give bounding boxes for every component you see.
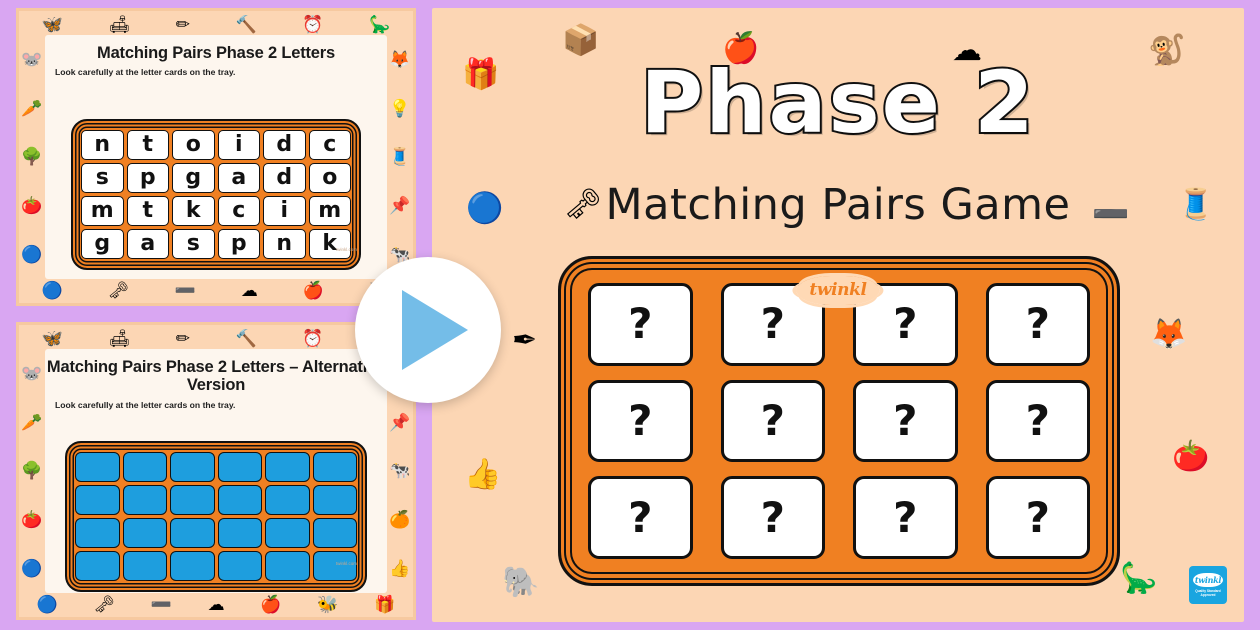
letter-card[interactable]: m xyxy=(81,196,124,226)
facedown-card[interactable] xyxy=(313,551,358,581)
facedown-card[interactable] xyxy=(313,452,358,482)
thumb-icon: 👍 xyxy=(464,460,501,490)
crayon-icon: ✒ xyxy=(512,326,537,356)
letter-card[interactable]: k xyxy=(309,229,352,259)
slide-1-card: Matching Pairs Phase 2 Letters Look care… xyxy=(45,35,387,279)
letter-card[interactable]: d xyxy=(263,163,306,193)
facedown-card[interactable] xyxy=(75,551,120,581)
letter-card[interactable]: m xyxy=(309,196,352,226)
letter-card[interactable]: a xyxy=(218,163,261,193)
crayon-icon: ✏ xyxy=(176,16,190,33)
clipart-border-right: 🦊 💡 🧵 📌 🐄 xyxy=(387,35,413,279)
bench-icon: 🛋 xyxy=(109,16,131,33)
letter-card[interactable]: i xyxy=(218,130,261,160)
balloon-icon: 🔵 xyxy=(42,282,63,299)
stegosaurus-icon: 🦕 xyxy=(1120,564,1157,594)
tomato-icon: 🍅 xyxy=(21,197,42,214)
letter-card[interactable]: c xyxy=(309,130,352,160)
question-card[interactable]: ? xyxy=(986,476,1091,559)
facedown-card[interactable] xyxy=(170,551,215,581)
letter-card[interactable]: k xyxy=(172,196,215,226)
question-card[interactable]: ? xyxy=(721,380,826,463)
balloon-icon: 🔵 xyxy=(21,246,42,263)
presentation-preview: 🦋 🛋 ✏ 🔨 ⏰ 🦕 🐭 🥕 🌳 🍅 🔵 🦊 💡 🧵 📌 🐄 🔵 🗝 ➖ ☁ xyxy=(0,0,1260,630)
slide-thumbnail-2[interactable]: 🦋 🛋 ✏ 🔨 ⏰ 🦕 🐭 🥕 🌳 🍅 🔵 🧵 📌 🐄 🍊 👍 🔵 🗝 ➖ ☁ xyxy=(16,322,416,620)
belt-icon: ➖ xyxy=(175,282,196,299)
tomato-icon: 🍅 xyxy=(1172,442,1209,472)
nail-icon: 📌 xyxy=(389,414,410,431)
fox-icon: 🦊 xyxy=(389,51,410,68)
letter-card[interactable]: o xyxy=(172,130,215,160)
question-card[interactable]: ? xyxy=(853,283,958,366)
belt-icon: ➖ xyxy=(151,596,172,613)
letter-card[interactable]: t xyxy=(127,130,170,160)
letter-tray-slide-1: ntoidcspgadomtkcimgaspnk xyxy=(71,119,361,270)
letter-card[interactable]: t xyxy=(127,196,170,226)
tree-icon: 🌳 xyxy=(21,462,42,479)
facedown-tray-slide-2 xyxy=(65,441,367,592)
mouse-icon: 🐭 xyxy=(21,51,42,68)
facedown-card[interactable] xyxy=(123,485,168,515)
clipart-border-bottom: 🔵 🗝 ➖ ☁ 🍎 🐝 🎁 xyxy=(19,591,413,617)
mouse-icon: 🐝 xyxy=(317,596,338,613)
facedown-card[interactable] xyxy=(170,452,215,482)
rock-icon: ☁ xyxy=(241,282,258,299)
letter-card[interactable]: n xyxy=(263,229,306,259)
rock-icon: ☁ xyxy=(208,596,225,613)
carrot-icon: 🥕 xyxy=(21,100,42,117)
game-card-grid: ???????????? xyxy=(588,283,1090,559)
facedown-card[interactable] xyxy=(75,518,120,548)
facedown-card[interactable] xyxy=(218,551,263,581)
tree-icon: 🌳 xyxy=(21,148,42,165)
balloon-icon: 🔵 xyxy=(21,560,42,577)
dinosaur-icon: 🦕 xyxy=(369,16,390,33)
question-card[interactable]: ? xyxy=(588,380,693,463)
facedown-card[interactable] xyxy=(170,485,215,515)
twinkl-quality-badge: twinkl Quality StandardApproved xyxy=(1189,566,1227,604)
balloon-icon: 🔵 xyxy=(37,596,58,613)
letter-card[interactable]: c xyxy=(218,196,261,226)
apple-icon: 🍎 xyxy=(260,596,281,613)
key-icon: 🗝 xyxy=(108,282,130,299)
question-card[interactable]: ? xyxy=(721,476,826,559)
twinkl-badge-brand: twinkl xyxy=(1193,573,1223,587)
slide-2-card: Matching Pairs Phase 2 Letters – Alterna… xyxy=(45,349,387,593)
key-icon: 🗝 xyxy=(94,596,116,613)
facedown-card[interactable] xyxy=(123,551,168,581)
facedown-card[interactable] xyxy=(123,452,168,482)
mouse-icon: 🐭 xyxy=(21,365,42,382)
facedown-card[interactable] xyxy=(218,452,263,482)
box-icon: 📦 xyxy=(562,26,599,56)
letter-card[interactable]: i xyxy=(263,196,306,226)
orange-icon: 🍊 xyxy=(389,511,410,528)
clipart-border-top: 🦋 🛋 ✏ 🔨 ⏰ 🦕 xyxy=(19,325,413,351)
nail-icon: 📌 xyxy=(389,197,410,214)
twinkl-badge-caption: Quality StandardApproved xyxy=(1191,589,1225,597)
twinkl-badge-caption-line-2: Approved xyxy=(1201,593,1216,597)
sock-icon: 🧵 xyxy=(389,148,410,165)
clipart-border-bottom: 🔵 🗝 ➖ ☁ 🍎 🐝 xyxy=(19,277,413,303)
game-tray: ???????????? xyxy=(558,256,1120,586)
crayon-icon: ✏ xyxy=(176,330,190,347)
question-card[interactable]: ? xyxy=(853,476,958,559)
question-card[interactable]: ? xyxy=(986,283,1091,366)
facedown-card[interactable] xyxy=(265,485,310,515)
play-button[interactable] xyxy=(355,257,501,403)
carrot-icon: 🥕 xyxy=(21,414,42,431)
thumb-icon: 👍 xyxy=(389,560,410,577)
clock-icon: ⏰ xyxy=(302,330,323,347)
facedown-card[interactable] xyxy=(265,518,310,548)
facedown-card[interactable] xyxy=(218,485,263,515)
slide-thumbnail-1[interactable]: 🦋 🛋 ✏ 🔨 ⏰ 🦕 🐭 🥕 🌳 🍅 🔵 🦊 💡 🧵 📌 🐄 🔵 🗝 ➖ ☁ xyxy=(16,8,416,306)
facedown-card[interactable] xyxy=(265,452,310,482)
main-title: Phase 2 xyxy=(432,60,1244,146)
clipart-border-left: 🐭 🥕 🌳 🍅 🔵 xyxy=(19,349,45,593)
question-card[interactable]: ? xyxy=(588,283,693,366)
zebra-icon: 🦋 xyxy=(42,16,63,33)
lamp-icon: 💡 xyxy=(389,100,410,117)
question-card[interactable]: ? xyxy=(853,380,958,463)
slide-2-title: Matching Pairs Phase 2 Letters – Alterna… xyxy=(45,349,387,395)
main-subtitle: Matching Pairs Game xyxy=(432,180,1244,230)
elephant-icon: 🐘 xyxy=(502,568,539,598)
saw-icon: 🔨 xyxy=(236,16,257,33)
main-slide-preview[interactable]: 📦🎁🍎☁🐒🔵🗝➖🧵✒🦊👍🍅🐘🦕 Phase 2 Matching Pairs G… xyxy=(432,8,1244,622)
letter-card[interactable]: g xyxy=(81,229,124,259)
clipart-border-left: 🐭 🥕 🌳 🍅 🔵 xyxy=(19,35,45,279)
facedown-card[interactable] xyxy=(265,551,310,581)
bench-icon: 🛋 xyxy=(109,330,131,347)
slide-2-instruction: Look carefully at the letter cards on th… xyxy=(45,395,387,410)
apple-icon: 🍎 xyxy=(303,282,324,299)
letter-card[interactable]: s xyxy=(172,229,215,259)
letter-card[interactable]: n xyxy=(81,130,124,160)
slide-1-credit: twinkl.com xyxy=(336,247,357,252)
clock-icon: ⏰ xyxy=(302,16,323,33)
letter-card[interactable]: p xyxy=(127,163,170,193)
facedown-card[interactable] xyxy=(75,485,120,515)
cow-icon: 🐄 xyxy=(389,462,410,479)
slide-2-credit: twinkl.com xyxy=(336,561,357,566)
facedown-card[interactable] xyxy=(75,452,120,482)
gift-icon: 🎁 xyxy=(374,596,395,613)
letter-card[interactable]: d xyxy=(263,130,306,160)
clipart-border-top: 🦋 🛋 ✏ 🔨 ⏰ 🦕 xyxy=(19,11,413,37)
zebra-icon: 🦋 xyxy=(42,330,63,347)
facedown-card[interactable] xyxy=(123,518,168,548)
letter-card[interactable]: p xyxy=(218,229,261,259)
facedown-card[interactable] xyxy=(218,518,263,548)
saw-icon: 🔨 xyxy=(236,330,257,347)
slide-1-title: Matching Pairs Phase 2 Letters xyxy=(45,35,387,62)
play-triangle-icon xyxy=(402,290,468,370)
question-card[interactable]: ? xyxy=(986,380,1091,463)
letter-card[interactable]: a xyxy=(127,229,170,259)
letter-card[interactable]: g xyxy=(172,163,215,193)
facedown-card[interactable] xyxy=(170,518,215,548)
question-card[interactable]: ? xyxy=(721,283,826,366)
facedown-card[interactable] xyxy=(313,485,358,515)
fox-icon: 🦊 xyxy=(1150,320,1187,350)
letter-card[interactable]: s xyxy=(81,163,124,193)
slide-1-instruction: Look carefully at the letter cards on th… xyxy=(45,62,387,77)
tomato-icon: 🍅 xyxy=(21,511,42,528)
letter-card[interactable]: o xyxy=(309,163,352,193)
question-card[interactable]: ? xyxy=(588,476,693,559)
facedown-card[interactable] xyxy=(313,518,358,548)
